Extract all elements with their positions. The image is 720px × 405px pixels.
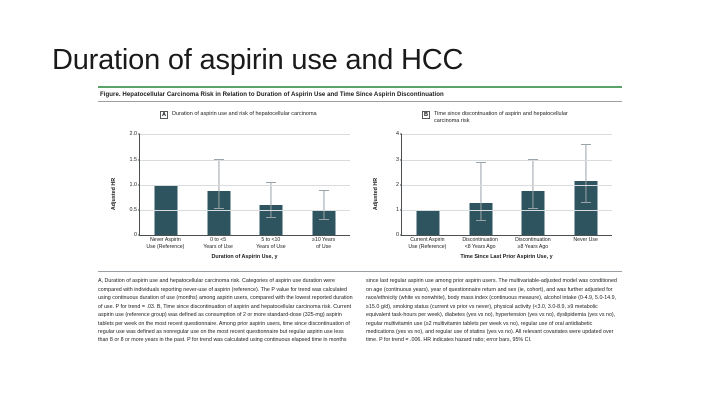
x-axis-tick-label: 5 to <10Years of Use — [245, 237, 298, 250]
error-bar-cap-upper — [319, 190, 329, 191]
panel-a-title: Duration of aspirin use and risk of hepa… — [172, 111, 317, 118]
panel-a: A Duration of aspirin use and risk of he… — [98, 111, 360, 258]
gridline — [402, 210, 612, 211]
panel-a-x-axis-label: Duration of Aspirin Use, y — [139, 254, 350, 260]
y-axis-tick-mark — [138, 159, 140, 160]
panel-a-plot-area: 00.51.01.52.0 — [139, 134, 350, 236]
error-bar-cap-lower — [528, 208, 538, 209]
y-axis-tick-mark — [138, 184, 140, 185]
figure-block: Figure. Hepatocellular Carcinoma Risk in… — [98, 86, 622, 398]
panel-b-y-axis-label: Adjusted HR — [373, 178, 379, 210]
x-axis-tick-label: Never AspirinUse (Reference) — [139, 237, 192, 250]
page-title: Duration of aspirin use and HCC — [52, 44, 463, 77]
panel-a-letter: A — [160, 111, 168, 119]
figure-caption: Figure. Hepatocellular Carcinoma Risk in… — [98, 88, 622, 101]
error-bar-cap-upper — [476, 162, 486, 163]
panel-b-x-axis-label: Time Since Last Prior Aspirin Use, y — [401, 254, 612, 260]
panel-b-x-tick-labels: Current AspirinUse (Reference)Discontinu… — [401, 237, 612, 250]
gridline — [402, 185, 612, 186]
panel-a-x-tick-labels: Never AspirinUse (Reference)0 to <5Years… — [139, 237, 350, 250]
panel-b-plot-wrap: Adjusted HR 01234 Current AspirinUse (Re… — [360, 130, 622, 258]
error-bar-line — [323, 191, 324, 219]
footnote-right-column: since last regular aspirin use among pri… — [366, 277, 622, 345]
gridline — [140, 134, 350, 135]
gridline — [140, 160, 350, 161]
y-axis-tick-mark — [138, 210, 140, 211]
error-bar-cap-upper — [266, 182, 276, 183]
x-axis-tick-label: Never Use — [559, 237, 612, 250]
gridline — [140, 210, 350, 211]
panel-b: B Time since discontnuation of aspirin a… — [360, 111, 622, 258]
x-axis-tick-label: Discontinuation≥8 Years Ago — [507, 237, 560, 250]
panel-a-header: A Duration of aspirin use and risk of he… — [98, 111, 360, 129]
y-axis-tick-mark — [400, 184, 402, 185]
y-axis-tick-mark — [400, 134, 402, 135]
y-axis-tick-mark — [138, 134, 140, 135]
x-axis-tick-label: Discontinuation<8 Years Ago — [454, 237, 507, 250]
x-axis-tick-label: 0 to <5Years of Use — [192, 237, 245, 250]
panel-a-plot-wrap: Adjusted HR 00.51.01.52.0 Never AspirinU… — [98, 130, 360, 258]
charts-container: A Duration of aspirin use and risk of he… — [98, 102, 622, 258]
error-bar-cap-lower — [476, 220, 486, 221]
error-bar-cap-lower — [581, 202, 591, 203]
y-axis-tick-mark — [138, 235, 140, 236]
error-bar-cap-lower — [266, 217, 276, 218]
error-bar-cap-lower — [319, 219, 329, 220]
panel-a-y-axis-label: Adjusted HR — [111, 178, 117, 210]
x-axis-tick-label: ≥10 Yearsof Use — [297, 237, 350, 250]
panel-b-plot-area: 01234 — [401, 134, 612, 236]
slide: Duration of aspirin use and HCC Figure. … — [0, 0, 720, 405]
error-bar-line — [585, 145, 586, 203]
y-axis-tick-mark — [400, 210, 402, 211]
bar — [417, 210, 440, 235]
panel-b-header: B Time since discontnuation of aspirin a… — [360, 111, 622, 129]
y-axis-tick-mark — [400, 235, 402, 236]
error-bar-cap-upper — [581, 144, 591, 145]
error-bar-line — [271, 183, 272, 218]
panel-b-letter: B — [422, 111, 430, 119]
panel-b-title: Time since discontnuation of aspirin and… — [434, 111, 584, 125]
error-bar-cap-lower — [214, 208, 224, 209]
footnote-left-column: A, Duration of aspirin use and hepatocel… — [98, 277, 354, 345]
y-axis-tick-mark — [400, 159, 402, 160]
gridline — [402, 134, 612, 135]
x-axis-tick-label: Current AspirinUse (Reference) — [401, 237, 454, 250]
gridline — [140, 185, 350, 186]
footnotes: A, Duration of aspirin use and hepatocel… — [98, 272, 622, 345]
gridline — [402, 160, 612, 161]
error-bar-line — [480, 163, 481, 221]
